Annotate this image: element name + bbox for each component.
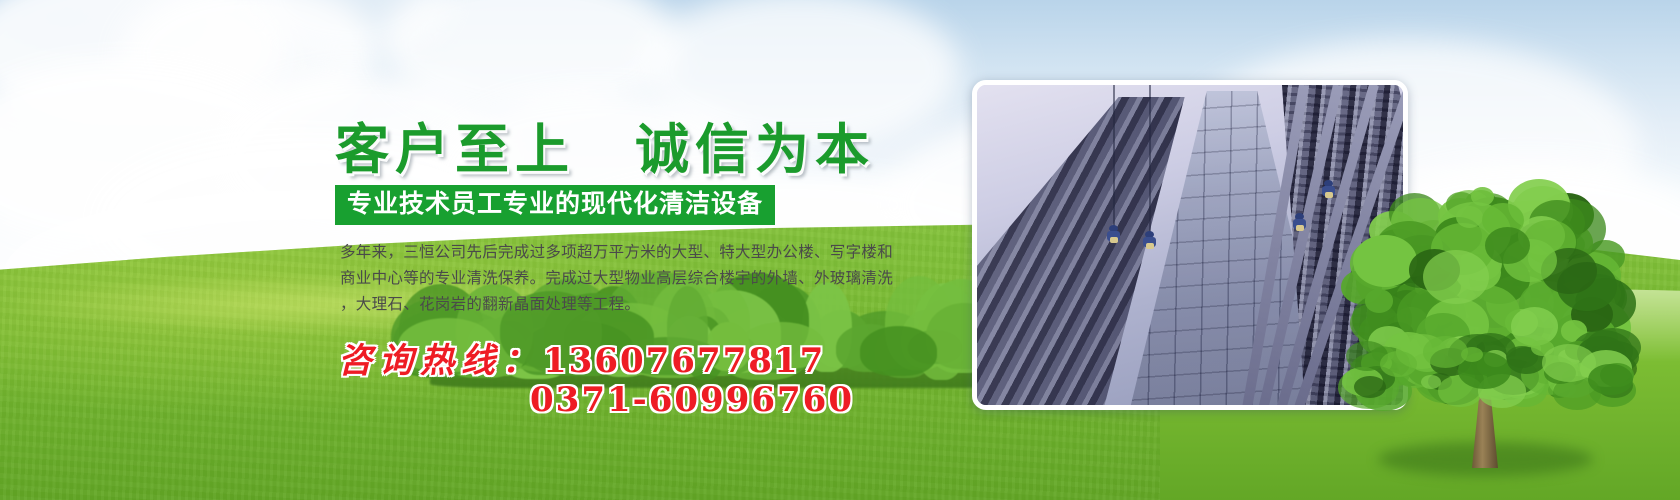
worker-kit	[1146, 243, 1154, 249]
tree-foliage-clump	[1485, 227, 1530, 264]
subtitle-bar: 专业技术员工专业的现代化清洁设备	[335, 185, 775, 225]
worker-kit	[1110, 237, 1118, 243]
worker-kit	[1296, 225, 1304, 231]
description-paragraph: 多年来，三恒公司先后完成过多项超万平方米的大型、特大型办公楼、写字楼和 商业中心…	[340, 240, 898, 318]
hotline-landline-number[interactable]: 0371-60996760	[530, 380, 854, 420]
paragraph-line: 商业中心等的专业清洗保养。完成过大型物业高层综合楼宇的外墙、外玻璃清洗	[340, 266, 898, 292]
hotline-primary: 咨询热线：13607677817	[338, 333, 825, 382]
tree-foliage-clump	[1354, 376, 1386, 398]
worker-kit	[1325, 192, 1333, 198]
tree-foliage-clump	[1588, 364, 1633, 395]
window-cleaner-worker-icon	[1293, 213, 1306, 233]
paragraph-line: 多年来，三恒公司先后完成过多项超万平方米的大型、特大型办公楼、写字楼和	[340, 240, 898, 266]
tree-foliage-clump	[1456, 206, 1483, 228]
tree-foliage-clump	[1353, 235, 1417, 288]
promo-banner: 客户至上 诚信为本 专业技术员工专业的现代化清洁设备 多年来，三恒公司先后完成过…	[0, 0, 1680, 500]
window-cleaner-worker-icon	[1107, 225, 1120, 245]
hotline-mobile-number[interactable]: 13607677817	[543, 341, 825, 381]
tree-foliage-clump	[1423, 250, 1489, 304]
window-cleaner-worker-icon	[1322, 180, 1335, 200]
rope-line	[1149, 85, 1151, 233]
page-title: 客户至上 诚信为本	[335, 105, 875, 184]
tree-foliage-clump	[1365, 289, 1393, 312]
treeline-bush	[860, 326, 937, 376]
hotline-label: 咨询热线：	[338, 341, 543, 381]
tree-illustration	[1340, 172, 1640, 472]
rope-line	[1113, 85, 1115, 227]
tree-foliage-clump	[1380, 351, 1417, 377]
window-cleaner-worker-icon	[1143, 231, 1156, 251]
paragraph-line: ，大理石、花岗岩的翻新晶面处理等工程。	[340, 292, 898, 318]
